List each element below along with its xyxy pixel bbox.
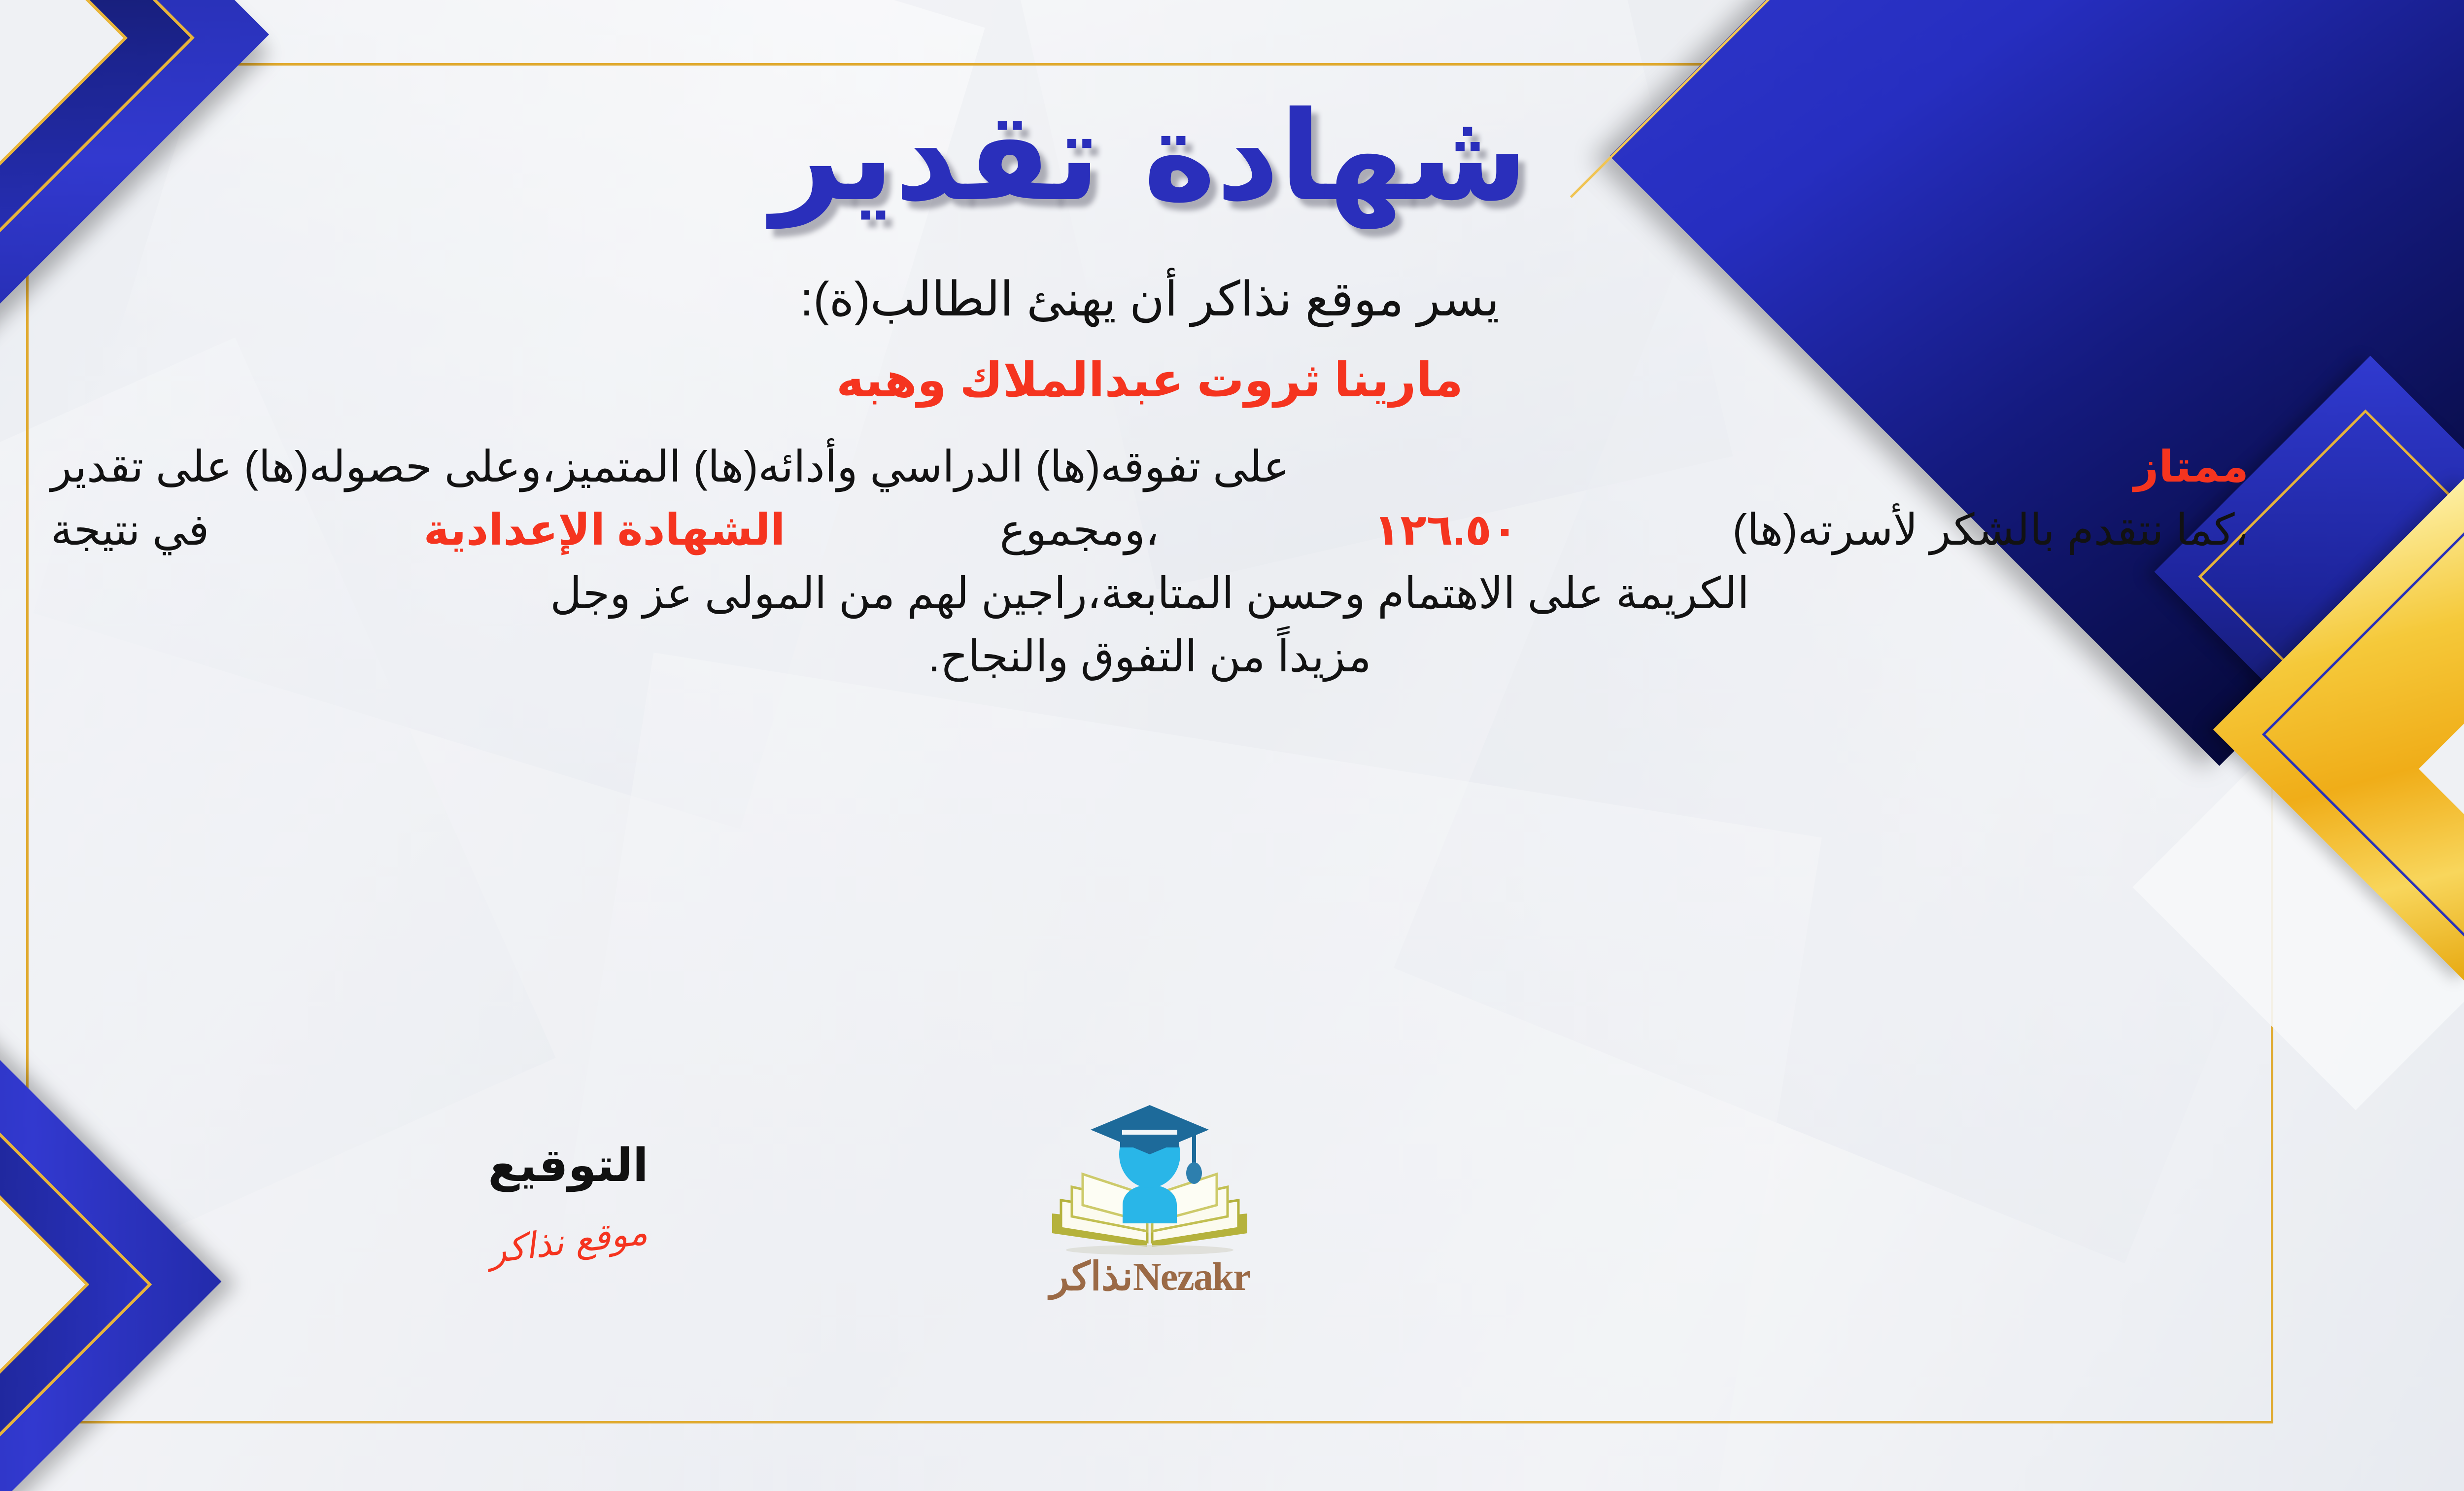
total-label: ،ومجموع xyxy=(1000,498,1160,561)
body-line-4: ،كما نتقدم بالشكر لأسرته(ها) ١٢٦.٥٠ ،ومج… xyxy=(51,498,2249,561)
logo-arabic-text: نذاكر xyxy=(1050,1253,1133,1299)
certificate-name: الشهادة الإعدادية xyxy=(424,498,786,561)
logo-wordmark: Nezakrنذاكر xyxy=(997,1253,1302,1300)
brand-logo: Nezakrنذاكر xyxy=(997,1099,1302,1300)
greeting-text: يسر موقع نذاكر أن يهنئ الطالب(ة): xyxy=(51,271,2249,327)
body-line-3: ممتاز على تفوقه(ها) الدراسي وأدائه(ها) ا… xyxy=(51,435,2249,498)
student-name: مارينا ثروت عبدالملاك وهبه xyxy=(51,352,2249,408)
logo-latin-text: Nezakr xyxy=(1133,1255,1250,1299)
certificate-body: ممتاز على تفوقه(ها) الدراسي وأدائه(ها) ا… xyxy=(51,435,2249,689)
signature-block: التوقيع موقع نذاكر xyxy=(415,1139,721,1262)
total-score: ١٢٦.٥٠ xyxy=(1373,498,1518,561)
thanks-family-text: ،كما نتقدم بالشكر لأسرته(ها) xyxy=(1733,498,2249,561)
result-prefix: في نتيجة xyxy=(51,498,209,561)
signature-mark: موقع نذاكر xyxy=(486,1211,650,1272)
page-title: شهادة تقدير xyxy=(51,89,2249,224)
body-line-3-text: على تفوقه(ها) الدراسي وأدائه(ها) المتميز… xyxy=(51,435,1289,498)
certificate-footer: التوقيع موقع نذاكر xyxy=(51,1079,2249,1395)
body-line-5: الكريمة على الاهتمام وحسن المتابعة،راجين… xyxy=(51,562,2249,625)
signature-label: التوقيع xyxy=(415,1139,721,1192)
certificate-content: شهادة تقدير يسر موقع نذاكر أن يهنئ الطال… xyxy=(51,74,2249,1415)
graduate-book-logo-icon xyxy=(1046,1099,1253,1262)
body-line-6: مزيداً من التفوق والنجاح. xyxy=(51,625,2249,688)
certificate-page: شهادة تقدير يسر موقع نذاكر أن يهنئ الطال… xyxy=(0,0,2464,1491)
grade-value: ممتاز xyxy=(2134,435,2249,498)
